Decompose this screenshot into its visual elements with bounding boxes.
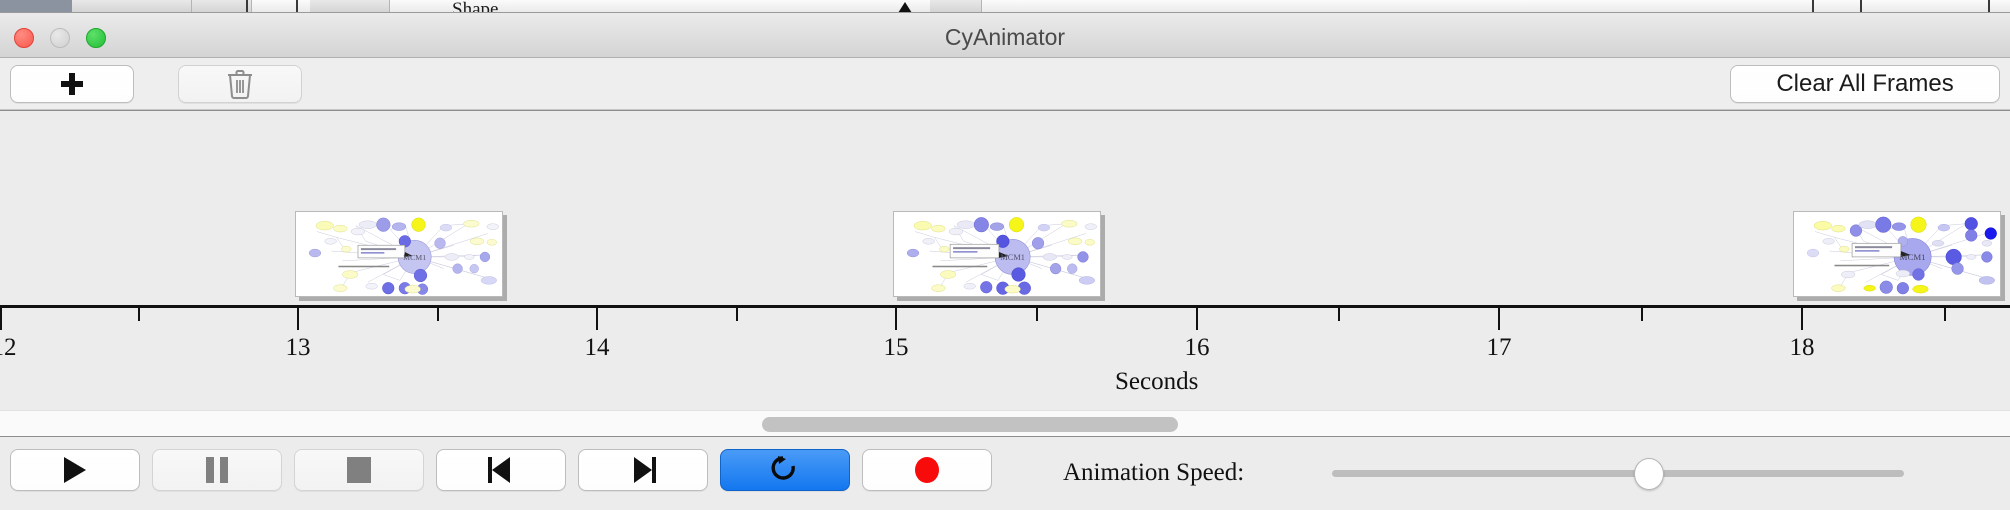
- frame-thumbnail[interactable]: MCM1: [1793, 211, 2001, 297]
- first-frame-button[interactable]: [436, 449, 566, 491]
- ruler-minor-tick: [736, 308, 738, 321]
- ruler-major-tick: [596, 308, 598, 330]
- frame-thumbnail[interactable]: MCM1: [295, 211, 503, 297]
- ruler-tick-label: 16: [1185, 334, 1210, 362]
- loop-toggle-button[interactable]: [720, 449, 850, 491]
- background-window-chip: [310, 0, 390, 13]
- loop-icon: [770, 454, 800, 486]
- frame-thumbnail[interactable]: MCM1: [893, 211, 1101, 297]
- ruler-major-tick: [0, 308, 2, 330]
- pause-icon: [206, 457, 228, 483]
- pause-button[interactable]: [152, 449, 282, 491]
- plus-icon: [61, 73, 83, 95]
- ruler-major-tick: [1196, 308, 1198, 330]
- background-window-tick: [1812, 0, 1814, 13]
- scrollbar-thumb[interactable]: [762, 417, 1178, 432]
- ruler-minor-tick: [1641, 308, 1643, 321]
- cyanimator-window: CyAnimator Clear All Frames: [0, 13, 2010, 510]
- skip-back-icon: [488, 457, 514, 483]
- background-window-strip: Shape: [0, 0, 2010, 13]
- ruler-major-tick: [1801, 308, 1803, 330]
- ruler-major-tick: [1498, 308, 1500, 330]
- ruler-minor-tick: [1338, 308, 1340, 321]
- timeline-horizontal-scrollbar[interactable]: [0, 410, 2010, 437]
- stop-icon: [347, 457, 371, 483]
- ruler-tick-label: 12: [0, 334, 17, 362]
- last-frame-button[interactable]: [578, 449, 708, 491]
- ruler-minor-tick: [1944, 308, 1946, 321]
- network-graph-thumbnail: MCM1: [894, 212, 1100, 296]
- frame-toolbar: Clear All Frames: [0, 58, 2010, 110]
- clear-all-frames-button[interactable]: Clear All Frames: [1730, 65, 2000, 103]
- svg-text:MCM1: MCM1: [403, 253, 426, 262]
- background-window-tick: [246, 0, 248, 13]
- animation-speed-label: Animation Speed:: [1063, 459, 1244, 487]
- timeline-axis-label: Seconds: [1115, 368, 1198, 396]
- ruler-tick-label: 13: [286, 334, 311, 362]
- window-title: CyAnimator: [0, 24, 2010, 51]
- background-window-selected-tab: [0, 0, 72, 13]
- svg-text:MCM1: MCM1: [1000, 253, 1024, 262]
- play-button[interactable]: [10, 449, 140, 491]
- delete-frame-button[interactable]: [178, 65, 302, 103]
- background-window-chip: [930, 0, 982, 13]
- background-window-chip: [192, 0, 252, 13]
- ruler-major-tick: [297, 308, 299, 330]
- ruler-tick-label: 15: [884, 334, 909, 362]
- background-window-chip: [72, 0, 192, 13]
- playback-controls-bar: Animation Speed:: [0, 437, 2010, 503]
- animation-speed-slider[interactable]: [1332, 470, 1904, 477]
- skip-forward-icon: [630, 457, 656, 483]
- window-titlebar: CyAnimator: [0, 13, 2010, 58]
- ruler-tick-label: 17: [1487, 334, 1512, 362]
- trash-icon: [227, 69, 253, 99]
- add-frame-button[interactable]: [10, 65, 134, 103]
- stop-button[interactable]: [294, 449, 424, 491]
- ruler-tick-label: 14: [585, 334, 610, 362]
- background-window-tick: [1988, 0, 1990, 13]
- play-icon: [64, 457, 86, 483]
- network-graph-thumbnail: MCM1: [1794, 212, 2000, 296]
- ruler-tick-label: 18: [1790, 334, 1815, 362]
- record-icon: [915, 457, 939, 483]
- frames-timeline-panel[interactable]: MCM1: [0, 110, 2010, 305]
- ruler-minor-tick: [1036, 308, 1038, 321]
- animation-speed-slider-knob[interactable]: [1634, 458, 1664, 490]
- clear-all-frames-label: Clear All Frames: [1776, 70, 1953, 98]
- timeline-ruler[interactable]: 12 13 14 15 16 17 18 Seconds: [0, 305, 2010, 410]
- record-button[interactable]: [862, 449, 992, 491]
- background-window-label: Shape: [452, 0, 498, 13]
- ruler-major-tick: [895, 308, 897, 330]
- ruler-minor-tick: [138, 308, 140, 321]
- background-window-tick: [296, 0, 298, 13]
- background-window-tick: [1860, 0, 1862, 13]
- svg-text:MCM1: MCM1: [1900, 252, 1926, 262]
- background-window-marker-icon: [898, 2, 912, 13]
- network-graph-thumbnail: MCM1: [296, 212, 502, 296]
- ruler-minor-tick: [437, 308, 439, 321]
